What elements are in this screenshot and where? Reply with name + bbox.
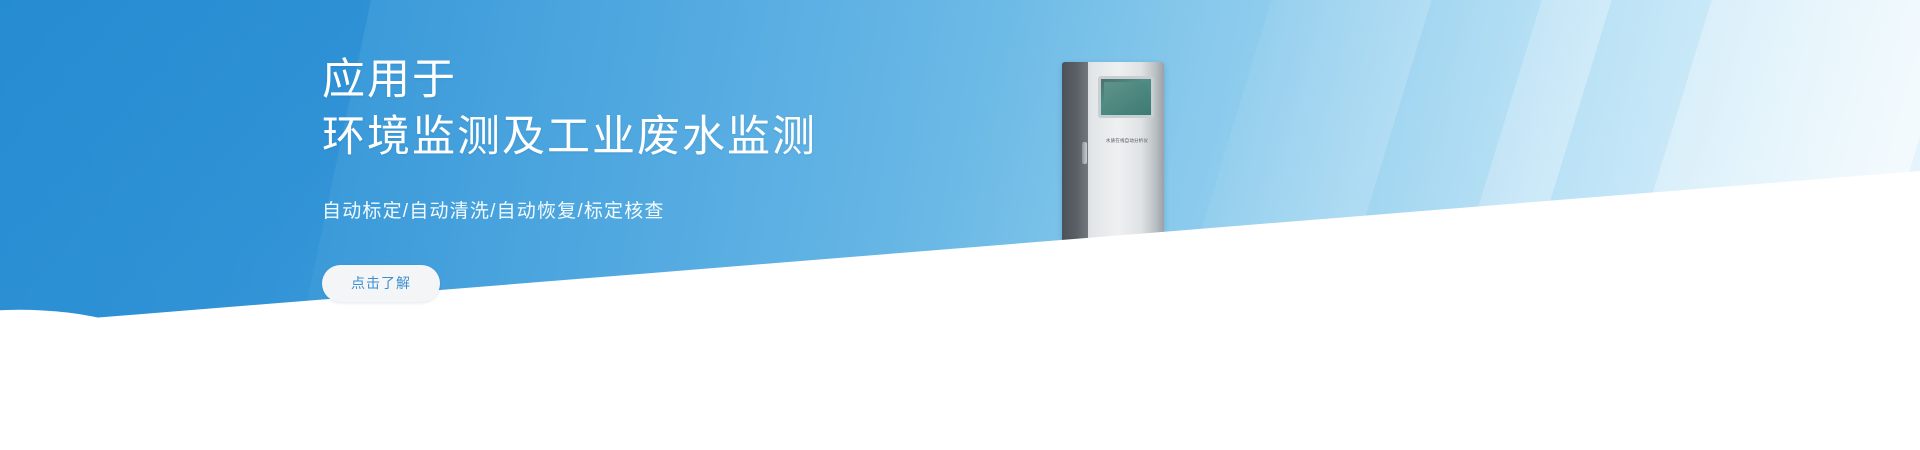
analyzer-model-label: 水质在线自动分析仪	[1091, 138, 1162, 144]
hero-copy-block: 应用于 环境监测及工业废水监测 自动标定/自动清洗/自动恢复/标定核查 点击了解	[322, 52, 1082, 302]
hero-banner: 水质在线自动分析仪 应用于 环境监测及工业废水监测 自动标定/自动清洗/自动恢复…	[0, 0, 1920, 450]
learn-more-button[interactable]: 点击了解	[322, 265, 440, 302]
hero-headline-line1: 应用于	[322, 52, 1082, 109]
hero-subtitle: 自动标定/自动清洗/自动恢复/标定核查	[322, 196, 1082, 223]
analyzer-display-screen	[1098, 76, 1154, 118]
analyzer-upper-door-handle	[1082, 142, 1087, 164]
hero-headline-line2: 环境监测及工业废水监测	[322, 109, 1082, 166]
analyzer-display-inner	[1104, 82, 1148, 112]
